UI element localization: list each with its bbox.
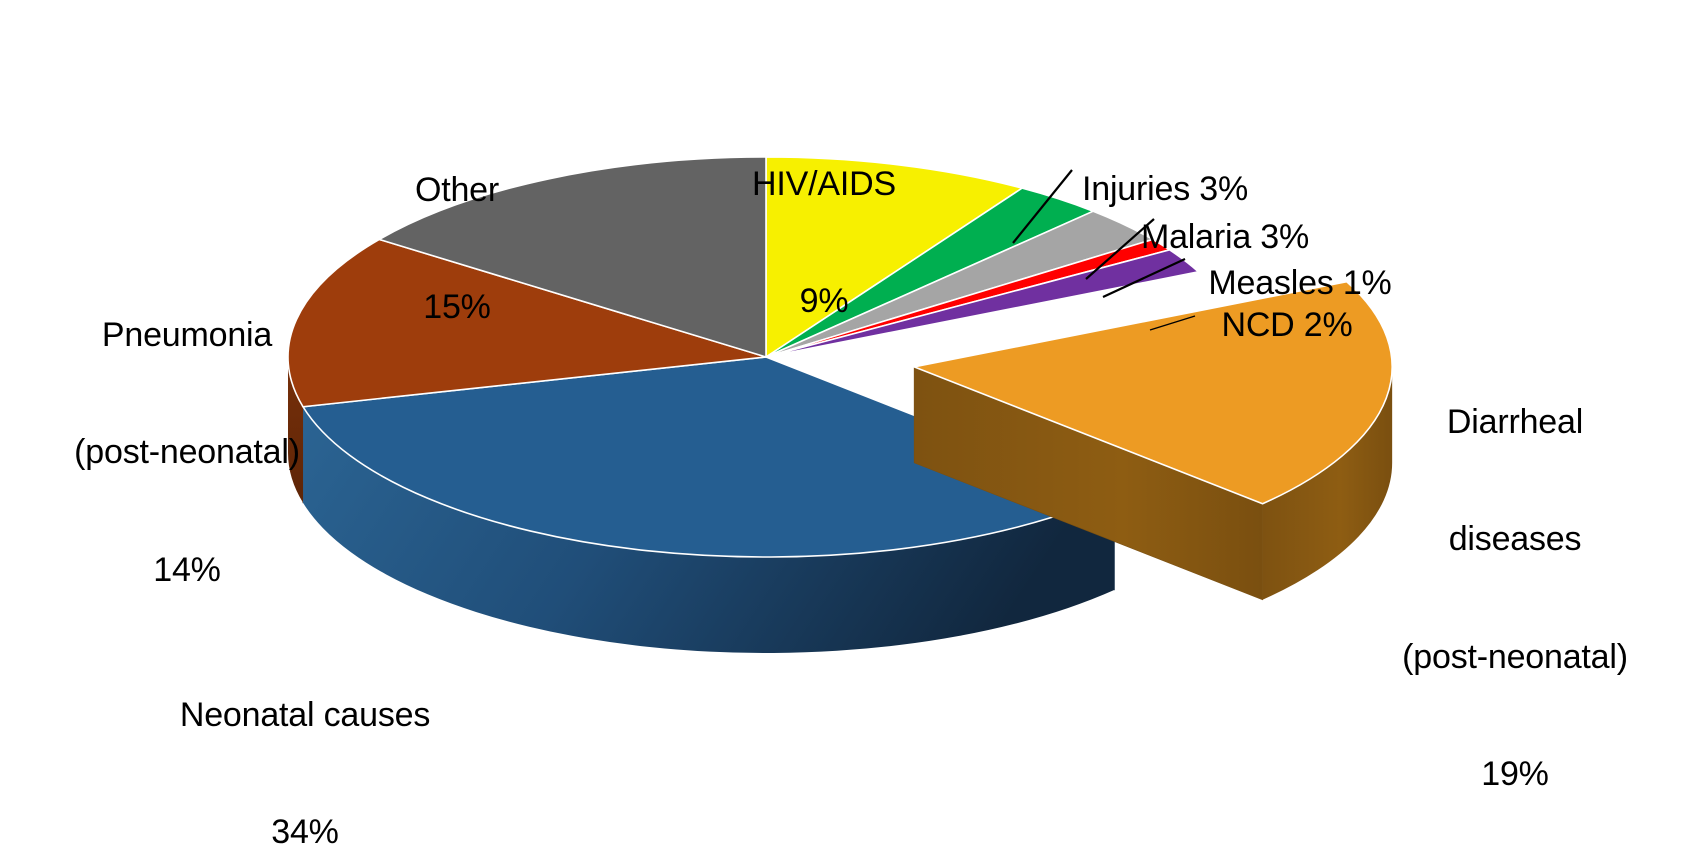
slice-label-diarrheal-line1: Diarrheal — [1370, 403, 1660, 442]
slice-label-hiv-aids-value: 9% — [700, 282, 948, 321]
slice-label-diarrheal: Diarrheal diseases (post-neonatal) 19% — [1370, 325, 1660, 857]
slice-label-ncd: NCD 2% — [1187, 228, 1387, 423]
slice-label-diarrheal-line3: (post-neonatal) — [1370, 638, 1660, 677]
slice-label-other-name: Other — [348, 171, 566, 210]
slice-label-other-value: 15% — [348, 288, 566, 327]
slice-label-diarrheal-line2: diseases — [1370, 520, 1660, 559]
slice-label-neonatal: Neonatal causes 34% — [150, 618, 460, 857]
slice-label-hiv-aids-name: HIV/AIDS — [700, 165, 948, 204]
pie-chart-figure: Other 15% HIV/AIDS 9% Injuries 3% Malari… — [0, 0, 1686, 857]
slice-label-pneumonia-line1: Pneumonia — [42, 316, 332, 355]
slice-label-neonatal-value: 34% — [150, 813, 460, 852]
slice-label-pneumonia-line2: (post-neonatal) — [42, 433, 332, 472]
slice-label-pneumonia: Pneumonia (post-neonatal) 14% — [42, 238, 332, 668]
slice-label-hiv-aids: HIV/AIDS 9% — [700, 87, 948, 400]
slice-label-ncd-text: NCD 2% — [1187, 306, 1387, 345]
slice-label-diarrheal-value: 19% — [1370, 755, 1660, 794]
slice-label-pneumonia-value: 14% — [42, 551, 332, 590]
slice-label-other: Other 15% — [348, 93, 566, 406]
slice-label-neonatal-name: Neonatal causes — [150, 696, 460, 735]
